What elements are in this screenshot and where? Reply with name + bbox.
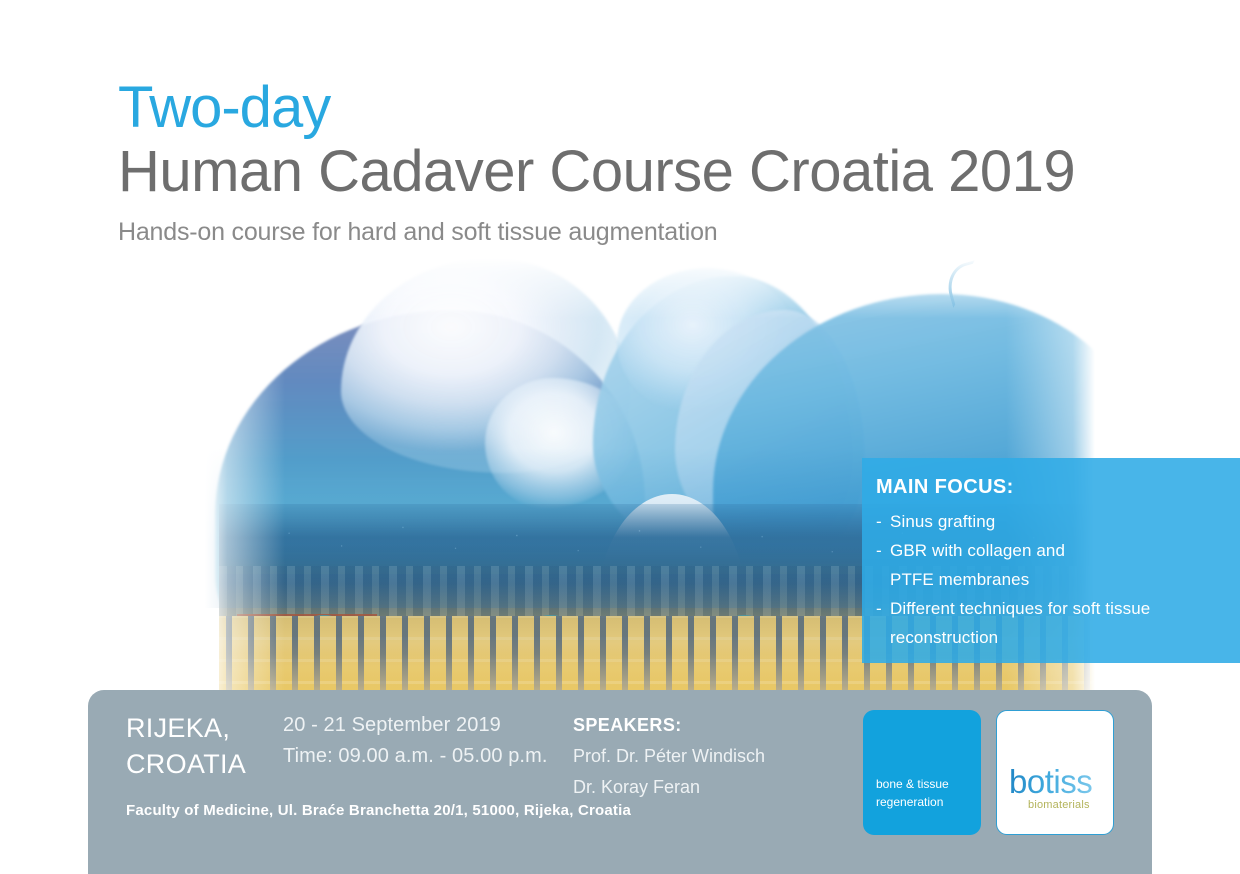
speaker-name: Dr. Koray Feran xyxy=(573,772,765,803)
event-schedule: 20 - 21 September 2019 Time: 09.00 a.m. … xyxy=(283,710,548,772)
list-item: PTFE membranes xyxy=(876,565,1240,594)
bullet-dash-icon: - xyxy=(876,594,890,623)
speakers-heading: SPEAKERS: xyxy=(573,710,765,741)
event-date: 20 - 21 September 2019 xyxy=(283,710,548,741)
bullet-dash-icon: - xyxy=(876,536,890,565)
page-title: Human Cadaver Course Croatia 2019 xyxy=(118,141,1168,204)
botiss-wordmark: botiss xyxy=(1009,763,1092,801)
event-time: Time: 09.00 a.m. - 05.00 p.m. xyxy=(283,741,548,772)
speakers-block: SPEAKERS: Prof. Dr. Péter Windisch Dr. K… xyxy=(573,710,765,803)
main-focus-item-text: PTFE membranes xyxy=(890,570,1029,589)
botiss-logo: botiss biomaterials xyxy=(996,710,1114,835)
speaker-name: Prof. Dr. Péter Windisch xyxy=(573,741,765,772)
main-focus-item-text: Sinus grafting xyxy=(890,512,995,531)
main-focus-item-text: GBR with collagen and xyxy=(890,541,1065,560)
page-subtitle: Hands-on course for hard and soft tissue… xyxy=(118,218,1168,247)
bullet-dash-icon: - xyxy=(876,507,890,536)
bone-tissue-logo-line1: bone & tissue xyxy=(876,775,949,793)
poster-canvas: Two-day Human Cadaver Course Croatia 201… xyxy=(0,0,1240,874)
event-kicker: Two-day xyxy=(118,78,1168,137)
main-focus-panel: MAIN FOCUS: -Sinus grafting -GBR with co… xyxy=(862,458,1240,663)
bone-tissue-logo-text: bone & tissue regeneration xyxy=(876,775,949,811)
main-focus-heading: MAIN FOCUS: xyxy=(876,476,1240,499)
bone-tissue-logo-line2: regeneration xyxy=(876,793,949,811)
event-location: RIJEKA, CROATIA xyxy=(126,710,246,782)
botiss-tagline: biomaterials xyxy=(1028,799,1090,811)
list-item: reconstruction xyxy=(876,623,1240,652)
main-focus-item-text: reconstruction xyxy=(890,628,998,647)
bone-tissue-regeneration-logo: bone & tissue regeneration xyxy=(863,710,981,835)
list-item: -Sinus grafting xyxy=(876,507,1240,536)
event-city: RIJEKA, xyxy=(126,710,246,746)
footer-bar: RIJEKA, CROATIA 20 - 21 September 2019 T… xyxy=(88,690,1152,874)
header-block: Two-day Human Cadaver Course Croatia 201… xyxy=(118,78,1168,247)
main-focus-list: -Sinus grafting -GBR with collagen and P… xyxy=(876,507,1240,652)
list-item: -GBR with collagen and xyxy=(876,536,1240,565)
event-country: CROATIA xyxy=(126,746,246,782)
main-focus-item-text: Different techniques for soft tissue xyxy=(890,599,1150,618)
list-item: -Different techniques for soft tissue xyxy=(876,594,1240,623)
venue-address: Faculty of Medicine, Ul. Braće Branchett… xyxy=(126,802,631,819)
